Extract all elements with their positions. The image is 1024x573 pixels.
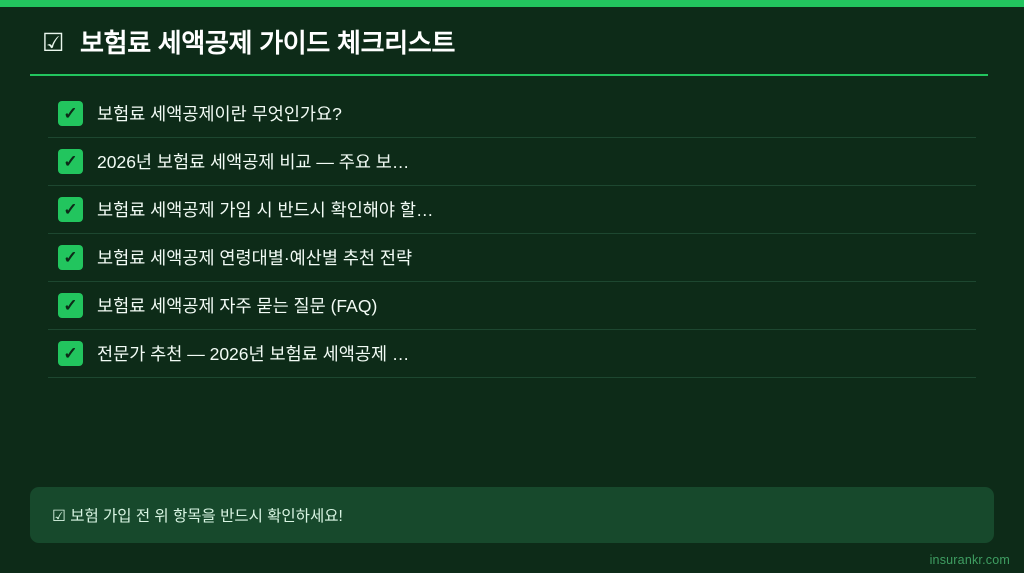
check-icon[interactable]: ✓ [58,101,83,126]
check-icon[interactable]: ✓ [58,197,83,222]
list-item[interactable]: ✓ 보험료 세액공제이란 무엇인가요? [48,90,976,138]
list-item-label: 보험료 세액공제이란 무엇인가요? [97,101,342,126]
checklist-icon: ☑ [42,31,68,56]
footer-note-text: ☑ 보험 가입 전 위 항목을 반드시 확인하세요! [52,504,343,526]
list-item[interactable]: ✓ 2026년 보험료 세액공제 비교 — 주요 보… [48,138,976,186]
watermark: insurankr.com [930,553,1010,567]
list-item[interactable]: ✓ 보험료 세액공제 가입 시 반드시 확인해야 할… [48,186,976,234]
list-item-label: 보험료 세액공제 연령대별·예산별 추천 전략 [97,245,412,270]
top-accent-bar [0,0,1024,7]
list-item-label: 보험료 세액공제 자주 묻는 질문 (FAQ) [97,293,377,318]
check-icon[interactable]: ✓ [58,293,83,318]
list-item-label: 2026년 보험료 세액공제 비교 — 주요 보… [97,149,409,174]
list-item[interactable]: ✓ 보험료 세액공제 연령대별·예산별 추천 전략 [48,234,976,282]
check-icon[interactable]: ✓ [58,149,83,174]
list-item-label: 보험료 세액공제 가입 시 반드시 확인해야 할… [97,197,433,222]
footer-note-panel: ☑ 보험 가입 전 위 항목을 반드시 확인하세요! [30,487,994,543]
page-title: 보험료 세액공제 가이드 체크리스트 [80,29,455,58]
check-icon[interactable]: ✓ [58,245,83,270]
checklist: ✓ 보험료 세액공제이란 무엇인가요? ✓ 2026년 보험료 세액공제 비교 … [30,90,994,378]
list-item[interactable]: ✓ 보험료 세액공제 자주 묻는 질문 (FAQ) [48,282,976,330]
check-icon[interactable]: ✓ [58,341,83,366]
list-item-label: 전문가 추천 — 2026년 보험료 세액공제 … [97,341,409,366]
page-header: ☑ 보험료 세액공제 가이드 체크리스트 [30,29,988,76]
list-item[interactable]: ✓ 전문가 추천 — 2026년 보험료 세액공제 … [48,330,976,378]
